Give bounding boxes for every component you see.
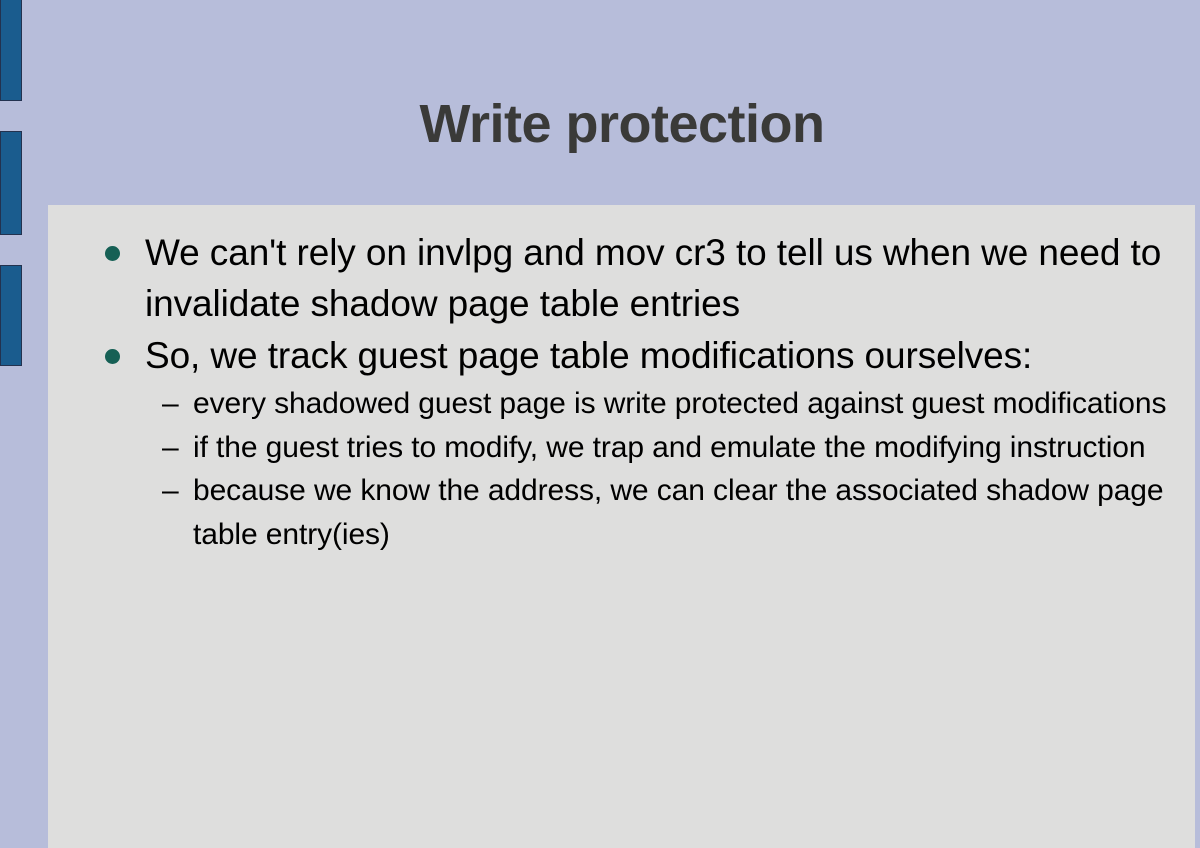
sub-bullet-text: every shadowed guest page is write prote… bbox=[193, 387, 1166, 420]
bullet-text: We can't rely on invlpg and mov cr3 to t… bbox=[145, 232, 1161, 324]
sub-bullet-list-container: – every shadowed guest page is write pro… bbox=[58, 382, 1185, 556]
bullet-item: So, we track guest page table modificati… bbox=[58, 330, 1185, 381]
decorative-bar-top bbox=[0, 0, 22, 101]
sub-bullet-text: because we know the address, we can clea… bbox=[193, 474, 1163, 551]
dash-icon: – bbox=[162, 469, 179, 513]
sub-bullet-item: – every shadowed guest page is write pro… bbox=[58, 382, 1185, 426]
bullet-text: So, we track guest page table modificati… bbox=[145, 335, 1032, 376]
sub-bullet-list: – every shadowed guest page is write pro… bbox=[58, 382, 1185, 556]
bullet-list: We can't rely on invlpg and mov cr3 to t… bbox=[58, 227, 1185, 556]
decorative-bar-middle bbox=[0, 131, 22, 235]
sub-bullet-item: – if the guest tries to modify, we trap … bbox=[58, 426, 1185, 470]
slide-title: Write protection bbox=[48, 96, 1196, 153]
bullet-dot-icon bbox=[105, 227, 131, 278]
bullet-item: We can't rely on invlpg and mov cr3 to t… bbox=[58, 227, 1185, 329]
bullet-dot-icon bbox=[105, 330, 131, 381]
sub-bullet-text: if the guest tries to modify, we trap an… bbox=[193, 431, 1145, 464]
decorative-bar-bottom bbox=[0, 265, 22, 366]
slide-content-panel: We can't rely on invlpg and mov cr3 to t… bbox=[48, 205, 1195, 848]
dash-icon: – bbox=[162, 426, 179, 470]
dash-icon: – bbox=[162, 382, 179, 426]
sub-bullet-item: – because we know the address, we can cl… bbox=[58, 469, 1185, 556]
presentation-slide: Write protection We can't rely on invlpg… bbox=[0, 0, 1200, 848]
